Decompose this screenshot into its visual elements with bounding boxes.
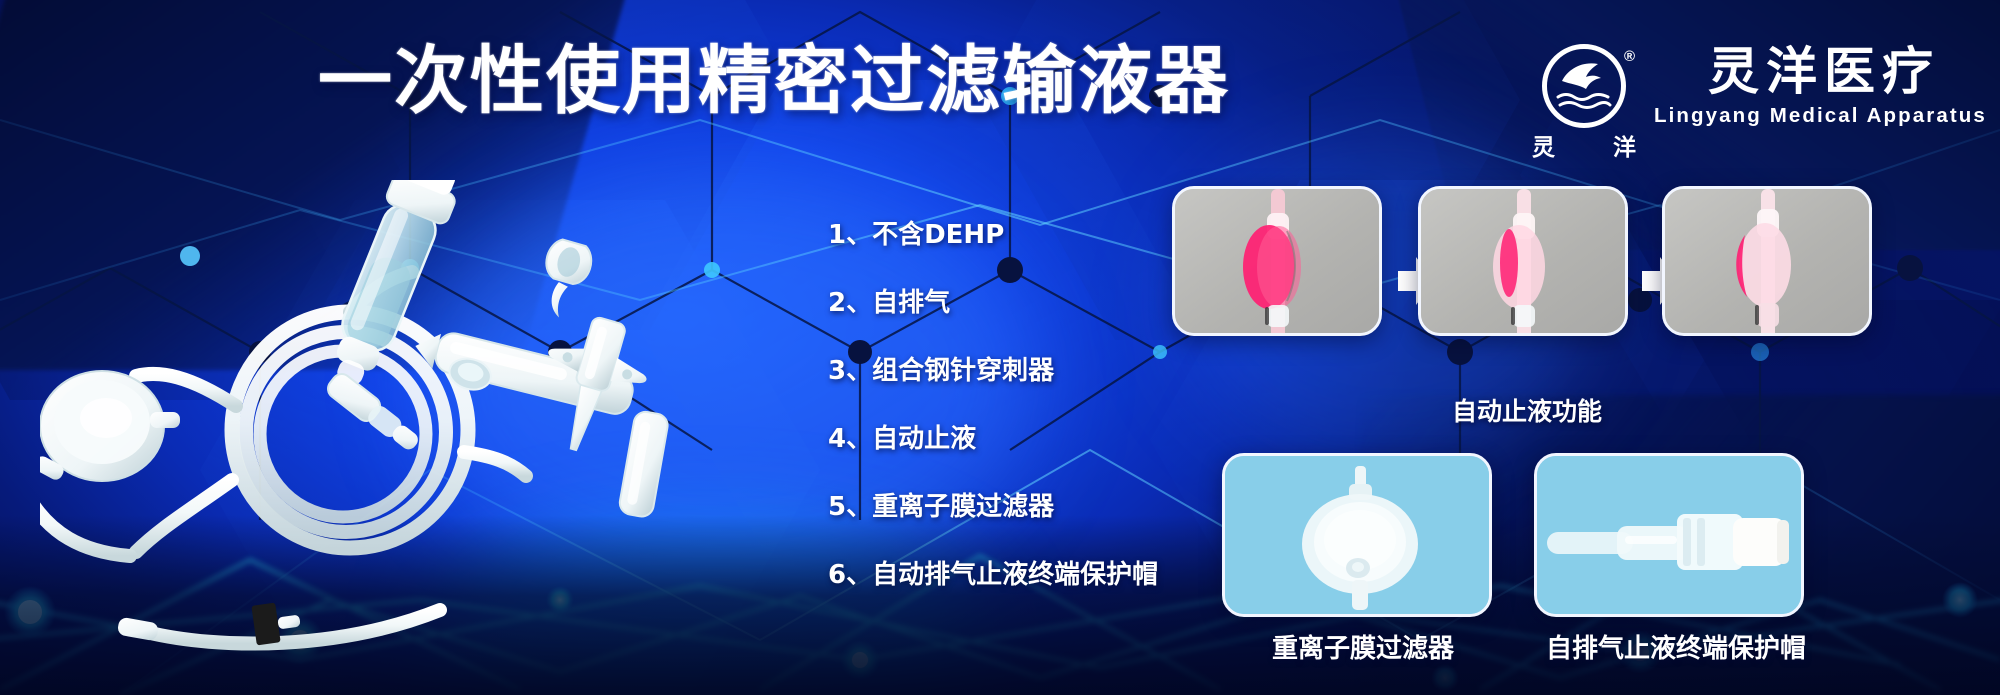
sequence-photo-3: [1662, 186, 1872, 336]
company-name-cn: 灵洋医疗: [1701, 46, 1940, 100]
sequence-photo-2: [1418, 186, 1628, 336]
banner-root: 一次性使用精密过滤输液器 ® 灵 洋 灵洋医疗 Lingyang Medical…: [0, 0, 2000, 695]
drip-chamber-stopped-icon: [1665, 189, 1872, 336]
brand-logo: ® 灵 洋 灵洋医疗 Lingyang Medical Apparatus: [1532, 42, 1987, 152]
feature-item-5: 5、重离子膜过滤器: [828, 494, 1158, 520]
drip-chamber-full-icon: [1175, 189, 1382, 336]
feature-item-6: 6、自动排气止液终端保护帽: [828, 562, 1158, 588]
product-photo: [40, 180, 800, 660]
filter-photo: [1222, 453, 1492, 617]
end-cap-photo: [1534, 453, 1804, 617]
sequence-caption: 自动止液功能: [1452, 392, 1602, 428]
drip-chamber-half-icon: [1421, 189, 1628, 336]
page-title: 一次性使用精密过滤输液器: [318, 44, 1230, 118]
end-cap-caption: 自排气止液终端保护帽: [1546, 628, 1806, 665]
logo-char-left: 灵: [1532, 128, 1555, 162]
logo-emblem-icon: ® 灵 洋: [1532, 42, 1636, 152]
feature-item-2: 2、自排气: [828, 290, 1158, 316]
logo-subchars: 灵 洋: [1532, 128, 1636, 162]
registered-trademark-icon: ®: [1624, 48, 1635, 65]
company-name-en: Lingyang Medical Apparatus: [1654, 104, 1987, 128]
logo-bird-icon: [1558, 59, 1610, 95]
sequence-photo-1: [1172, 186, 1382, 336]
feature-item-4: 4、自动止液: [828, 426, 1158, 452]
feature-list: 1、不含DEHP 2、自排气 3、组合钢针穿刺器 4、自动止液 5、重离子膜过滤…: [828, 222, 1158, 588]
logo-wave-icon: [1556, 92, 1612, 114]
product-filter-disc: [40, 371, 180, 482]
filter-caption: 重离子膜过滤器: [1272, 628, 1454, 665]
feature-item-3: 3、组合钢针穿刺器: [828, 358, 1158, 384]
heavy-ion-filter-icon: [1225, 456, 1492, 617]
self-venting-end-cap-icon: [1537, 456, 1804, 617]
logo-char-right: 洋: [1613, 128, 1636, 162]
brand-text-block: 灵洋医疗 Lingyang Medical Apparatus: [1654, 42, 1987, 128]
feature-item-1: 1、不含DEHP: [828, 222, 1158, 248]
